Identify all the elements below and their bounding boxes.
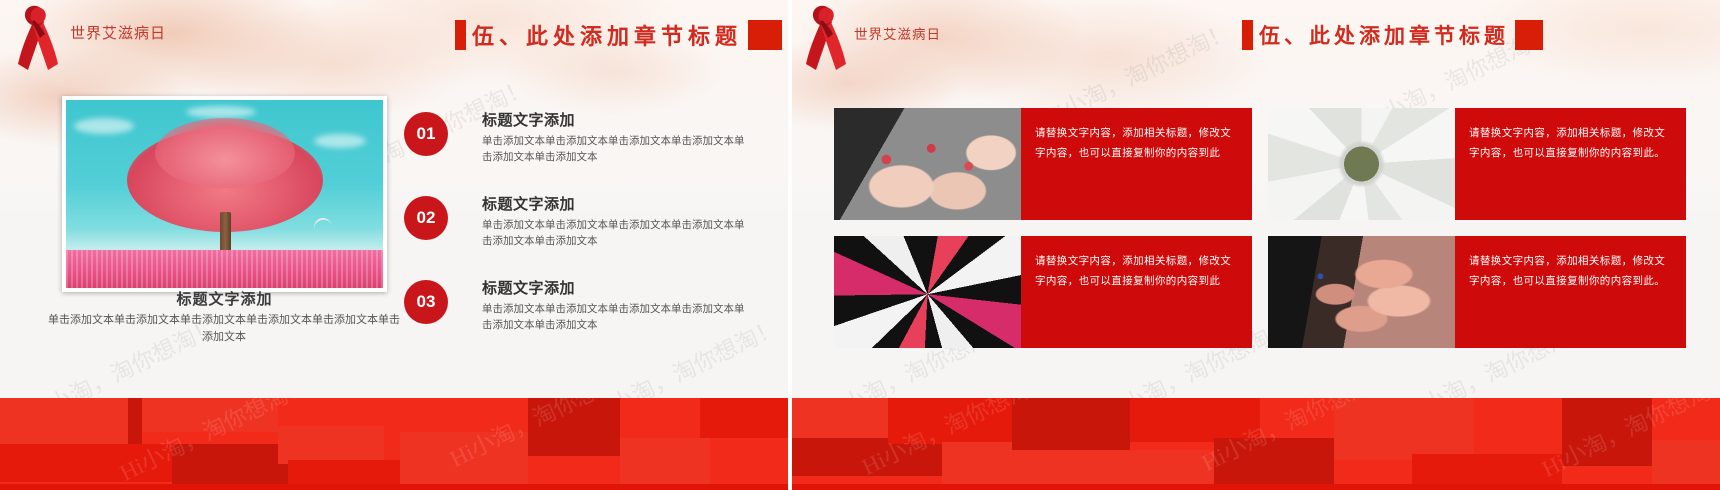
band-block bbox=[1334, 398, 1474, 460]
band-shadow-strip bbox=[792, 484, 1720, 490]
hands-holding-red-ribbons-photo[interactable] bbox=[834, 108, 1021, 220]
band-block bbox=[1562, 398, 1652, 466]
pink-field bbox=[66, 250, 383, 288]
band-block bbox=[1130, 398, 1260, 442]
band-block bbox=[528, 398, 620, 456]
step-number-badge: 03 bbox=[404, 280, 448, 324]
list-item[interactable]: 02 标题文字添加 单击添加文本单击添加文本单击添加文本单击添加文本单击添加文本… bbox=[404, 196, 754, 280]
band-block bbox=[1412, 454, 1562, 484]
red-tree-photo[interactable] bbox=[62, 96, 387, 292]
band-block bbox=[1012, 398, 1130, 450]
step-body: 单击添加文本单击添加文本单击添加文本单击添加文本单击添加文本单击添加文本 bbox=[482, 218, 754, 250]
list-item[interactable]: 请替换文字内容，添加相关标题，修改文字内容，也可以直接复制你的内容到此。 bbox=[1268, 108, 1686, 220]
list-item[interactable]: 请替换文字内容，添加相关标题，修改文字内容，也可以直接复制你的内容到此。 bbox=[1268, 236, 1686, 348]
band-block bbox=[1652, 440, 1720, 484]
band-shadow-strip bbox=[0, 484, 788, 490]
awareness-ribbon-icon bbox=[12, 2, 64, 72]
step-body: 单击添加文本单击添加文本单击添加文本单击添加文本单击添加文本单击添加文本 bbox=[482, 134, 754, 166]
section-title-text: 伍、此处添加章节标题 bbox=[466, 19, 746, 51]
ribbon-circle-group-photo[interactable] bbox=[834, 236, 1021, 348]
band-block bbox=[288, 460, 400, 484]
list-item[interactable]: 请替换文字内容，添加相关标题，修改文字内容，也可以直接复制你的内容到此 bbox=[834, 236, 1252, 348]
step-list: 01 标题文字添加 单击添加文本单击添加文本单击添加文本单击添加文本单击添加文本… bbox=[404, 112, 754, 364]
step-number-badge: 01 bbox=[404, 112, 448, 156]
cell-text: 请替换文字内容，添加相关标题，修改文字内容，也可以直接复制你的内容到此 bbox=[1021, 108, 1252, 220]
brand-label: 世界艾滋病日 bbox=[854, 23, 941, 43]
cell-text: 请替换文字内容，添加相关标题，修改文字内容，也可以直接复制你的内容到此。 bbox=[1455, 108, 1686, 220]
band-block bbox=[278, 426, 384, 464]
grid-row: 请替换文字内容，添加相关标题，修改文字内容，也可以直接复制你的内容到此 请替换文… bbox=[834, 108, 1686, 220]
band-block bbox=[1072, 450, 1214, 484]
section-title-text: 伍、此处添加章节标题 bbox=[1253, 20, 1513, 50]
band-block bbox=[792, 398, 888, 438]
grid-row: 请替换文字内容，添加相关标题，修改文字内容，也可以直接复制你的内容到此 请替换文… bbox=[834, 236, 1686, 348]
list-item[interactable]: 03 标题文字添加 单击添加文本单击添加文本单击添加文本单击添加文本单击添加文本… bbox=[404, 280, 754, 364]
band-block bbox=[172, 444, 288, 484]
brand-label: 世界艾滋病日 bbox=[70, 22, 166, 43]
caption-title: 标题文字添加 bbox=[62, 288, 387, 309]
section-title: 伍、此处添加章节标题 bbox=[1242, 19, 1543, 51]
bottom-ribbon-band: Hi小淘，淘你想淘！ Hi小淘，淘你想淘！ bbox=[0, 390, 788, 490]
band-block bbox=[1214, 438, 1334, 484]
doctors-circle-hands-photo[interactable] bbox=[1268, 108, 1455, 220]
step-content: 标题文字添加 单击添加文本单击添加文本单击添加文本单击添加文本单击添加文本单击添… bbox=[482, 277, 754, 334]
band-block bbox=[142, 398, 278, 432]
slide-right: Hi小淘，淘你想淘！ Hi小淘，淘你想淘！ Hi小淘，淘你想淘！ Hi小淘，淘你… bbox=[792, 0, 1720, 490]
slide-header: 世界艾滋病日 伍、此处添加章节标题 bbox=[0, 0, 788, 72]
step-title: 标题文字添加 bbox=[482, 277, 754, 298]
caption-body: 单击添加文本单击添加文本单击添加文本单击添加文本单击添加文本单击添加文本 bbox=[48, 312, 400, 346]
band-block bbox=[128, 398, 142, 444]
list-item[interactable]: 请替换文字内容，添加相关标题，修改文字内容，也可以直接复制你的内容到此 bbox=[834, 108, 1252, 220]
cupped-hands-photo[interactable] bbox=[1268, 236, 1455, 348]
band-block bbox=[0, 444, 172, 482]
band-block bbox=[888, 398, 1012, 444]
section-accent-bar-right bbox=[1515, 20, 1543, 50]
step-title: 标题文字添加 bbox=[482, 109, 754, 130]
ribbon-marks bbox=[1268, 108, 1455, 220]
awareness-ribbon-icon bbox=[800, 2, 852, 72]
section-accent-bar-right bbox=[748, 20, 782, 50]
ribbon-center bbox=[908, 274, 948, 314]
tree-canopy-highlight bbox=[155, 118, 295, 188]
section-accent-bar-left bbox=[1242, 20, 1253, 50]
step-number-badge: 02 bbox=[404, 196, 448, 240]
slide-header: 世界艾滋病日 伍、此处添加章节标题 bbox=[792, 0, 1720, 72]
band-block bbox=[400, 432, 528, 484]
step-content: 标题文字添加 单击添加文本单击添加文本单击添加文本单击添加文本单击添加文本单击添… bbox=[482, 109, 754, 166]
bottom-ribbon-band: Hi小淘，淘你想淘！ Hi小淘，淘你想淘！ Hi小淘，淘你想淘！ bbox=[792, 390, 1720, 490]
cloud-shape bbox=[186, 106, 256, 118]
step-content: 标题文字添加 单击添加文本单击添加文本单击添加文本单击添加文本单击添加文本单击添… bbox=[482, 193, 754, 250]
content-grid: 请替换文字内容，添加相关标题，修改文字内容，也可以直接复制你的内容到此 请替换文… bbox=[834, 108, 1686, 364]
presentation-slides-pair: Hi小淘，淘你想淘！ Hi小淘，淘你想淘！ Hi小淘，淘你想淘！ Hi小淘，淘你… bbox=[0, 0, 1720, 490]
cell-text: 请替换文字内容，添加相关标题，修改文字内容，也可以直接复制你的内容到此。 bbox=[1455, 236, 1686, 348]
photo-inner bbox=[66, 100, 383, 288]
band-block bbox=[700, 398, 788, 438]
step-title: 标题文字添加 bbox=[482, 193, 754, 214]
section-accent-bar-left bbox=[455, 20, 466, 50]
band-block bbox=[620, 438, 710, 484]
band-block bbox=[0, 398, 128, 444]
step-body: 单击添加文本单击添加文本单击添加文本单击添加文本单击添加文本单击添加文本 bbox=[482, 302, 754, 334]
list-item[interactable]: 01 标题文字添加 单击添加文本单击添加文本单击添加文本单击添加文本单击添加文本… bbox=[404, 112, 754, 196]
section-title: 伍、此处添加章节标题 bbox=[455, 19, 782, 51]
slide-left: Hi小淘，淘你想淘！ Hi小淘，淘你想淘！ Hi小淘，淘你想淘！ Hi小淘，淘你… bbox=[0, 0, 788, 490]
cloud-shape bbox=[314, 134, 366, 148]
cell-text: 请替换文字内容，添加相关标题，修改文字内容，也可以直接复制你的内容到此 bbox=[1021, 236, 1252, 348]
cloud-shape bbox=[74, 118, 134, 134]
